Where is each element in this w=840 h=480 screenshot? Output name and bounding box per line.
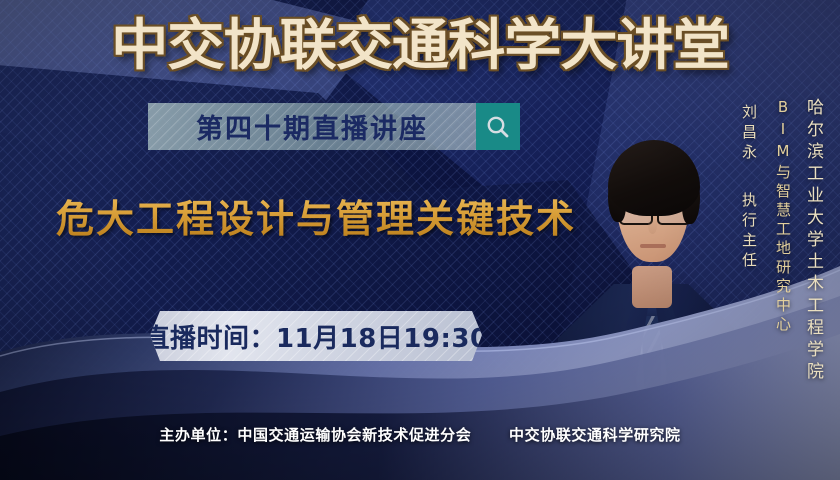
lecture-headline: 危大工程设计与管理关键技术	[56, 188, 576, 243]
organizer-label: 主办单位：中国交通运输协会新技术促进分会	[159, 426, 471, 444]
speaker-role: 执行主任	[739, 192, 760, 272]
speaker-portrait	[556, 88, 746, 436]
search-button[interactable]	[476, 103, 520, 150]
portrait-mouth	[640, 244, 666, 248]
broadcast-time-label: 直播时间：11月18日19:30	[150, 318, 482, 355]
page-title: 中交协联交通科学大讲堂	[0, 18, 840, 73]
episode-banner: 第四十期直播讲座	[148, 103, 520, 150]
portrait-neck	[632, 266, 672, 308]
speaker-institution: 哈尔滨工业大学土木工程学院	[801, 98, 826, 384]
footer-organizers: 主办单位：中国交通运输协会新技术促进分会 中交协联交通科学研究院	[0, 424, 840, 445]
broadcast-time-badge: 直播时间：11月18日19:30	[150, 311, 482, 361]
co-organizer-label: 中交协联交通科学研究院	[509, 426, 681, 444]
episode-banner-fill: 第四十期直播讲座	[148, 103, 476, 150]
webinar-poster: 中交协联交通科学大讲堂 第四十期直播讲座 危大工程设计与管理关键技术 危大工程设…	[0, 0, 840, 480]
episode-label: 第四十期直播讲座	[196, 107, 428, 146]
portrait-hair	[608, 140, 700, 216]
speaker-research-center: BIM与智慧工地研究中心	[773, 98, 794, 335]
portrait-nose	[648, 218, 657, 234]
speaker-name: 刘昌永	[739, 104, 760, 164]
search-icon	[485, 114, 511, 140]
